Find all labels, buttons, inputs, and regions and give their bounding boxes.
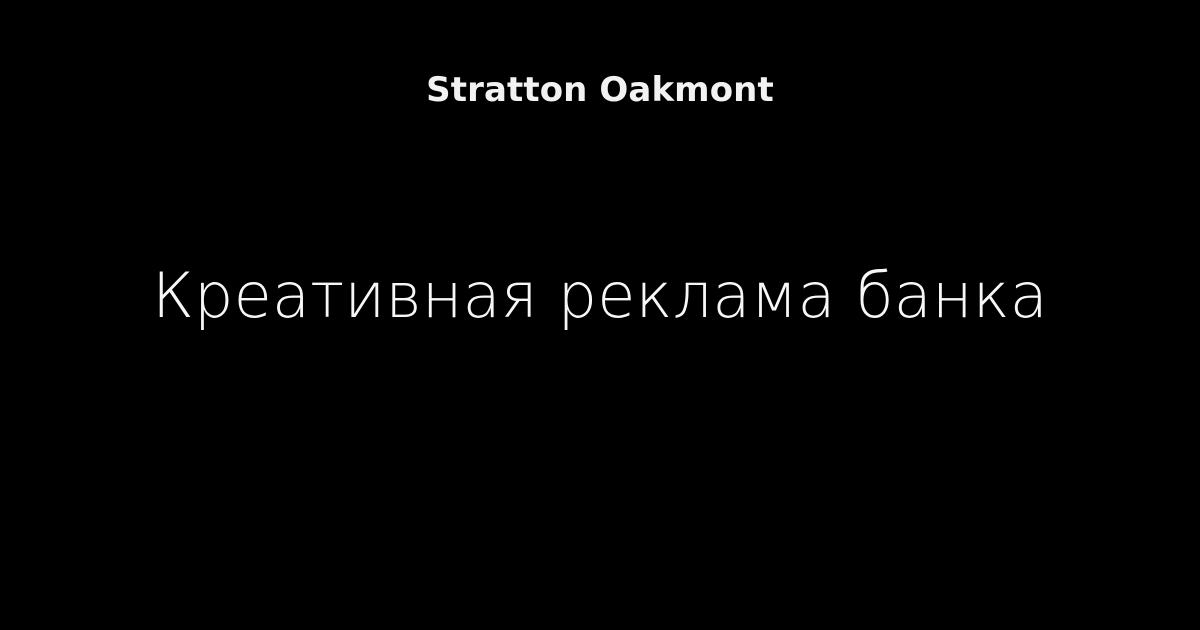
site-title: Stratton Oakmont: [0, 68, 1200, 112]
page-title: Креативная реклама банка: [0, 255, 1200, 337]
share-card: Stratton Oakmont Креативная реклама банк…: [0, 0, 1200, 630]
